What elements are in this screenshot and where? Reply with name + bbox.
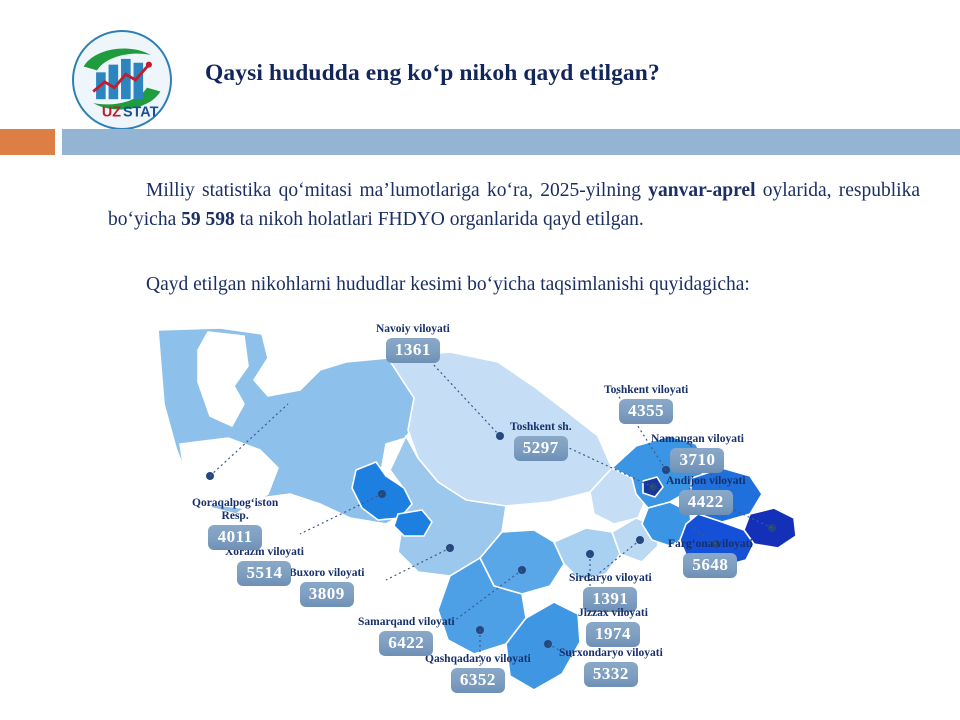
label-namangan-value: 3710 — [670, 448, 724, 473]
label-qoraqalpogiston[interactable]: Qoraqalpog‘iston Resp. 4011 — [192, 497, 278, 550]
intro-text-3: ta nikoh holatlari FHDYO organlarida qay… — [235, 209, 644, 230]
total-marriages-value: 59 598 — [181, 209, 235, 230]
label-qashqadaryo[interactable]: Qashqadaryo viloyati 6352 — [425, 653, 531, 693]
label-qoraqalpogiston-name-line1: Qoraqalpog‘iston — [192, 497, 278, 510]
label-namangan-name: Namangan viloyati — [651, 433, 744, 446]
page-title: Qaysi hududda eng ko‘p nikoh qayd etilga… — [205, 60, 905, 87]
label-surxondaryo-value: 5332 — [584, 662, 638, 687]
intro-text-1: Milliy statistika qo‘mitasi ma’lumotlari… — [146, 180, 648, 201]
label-toshkent-shahri[interactable]: Toshkent sh. 5297 — [510, 421, 572, 461]
slide: UZ STAT Qaysi hududda eng ko‘p nikoh qay… — [0, 0, 960, 720]
label-fargona-value: 5648 — [683, 553, 737, 578]
label-buxoro-value: 3809 — [300, 582, 354, 607]
label-fargona[interactable]: Farg‘ona viloyati 5648 — [668, 538, 753, 578]
uzstat-logo: UZ STAT — [72, 30, 172, 130]
label-jizzax[interactable]: Jizzax viloyati 1974 — [578, 607, 648, 647]
label-navoiy-value: 1361 — [386, 338, 440, 363]
label-fargona-name: Farg‘ona viloyati — [668, 538, 753, 551]
label-sirdaryo-name: Sirdaryo viloyati — [569, 572, 652, 585]
accent-bar-orange — [0, 129, 55, 155]
label-samarqand[interactable]: Samarqand viloyati 6422 — [358, 616, 455, 656]
label-andijon-name: Andijon viloyati — [666, 475, 746, 488]
label-qoraqalpogiston-value: 4011 — [208, 525, 262, 550]
logo-stat-text: STAT — [123, 104, 159, 120]
label-xorazm[interactable]: Xorazm viloyati 5514 — [225, 546, 304, 586]
label-xorazm-value: 5514 — [237, 561, 291, 586]
logo-uz-text: UZ — [102, 104, 121, 120]
label-toshkent-viloyati-value: 4355 — [619, 399, 673, 424]
label-namangan[interactable]: Namangan viloyati 3710 — [651, 433, 744, 473]
label-samarqand-value: 6422 — [379, 631, 433, 656]
label-jizzax-value: 1974 — [586, 622, 640, 647]
label-andijon[interactable]: Andijon viloyati 4422 — [666, 475, 746, 515]
intro-paragraph: Milliy statistika qo‘mitasi ma’lumotlari… — [108, 176, 920, 234]
label-surxondaryo[interactable]: Surxondaryo viloyati 5332 — [559, 647, 663, 687]
label-toshkent-shahri-value: 5297 — [514, 436, 568, 461]
label-navoiy[interactable]: Navoiy viloyati 1361 — [376, 323, 450, 363]
label-jizzax-name: Jizzax viloyati — [578, 607, 648, 620]
label-toshkent-shahri-name: Toshkent sh. — [510, 421, 572, 434]
label-qashqadaryo-value: 6352 — [451, 668, 505, 693]
accent-bar-blue — [62, 129, 960, 155]
label-toshkent-viloyati-name: Toshkent viloyati — [604, 384, 688, 397]
label-samarqand-name: Samarqand viloyati — [358, 616, 455, 629]
label-toshkent-viloyati[interactable]: Toshkent viloyati 4355 — [604, 384, 688, 424]
label-surxondaryo-name: Surxondaryo viloyati — [559, 647, 663, 660]
lead-in-paragraph: Qayd etilgan nikohlarni hududlar kesimi … — [108, 270, 920, 299]
label-qoraqalpogiston-name-line2: Resp. — [192, 510, 278, 523]
label-sirdaryo[interactable]: Sirdaryo viloyati 1391 — [569, 572, 652, 612]
label-navoiy-name: Navoiy viloyati — [376, 323, 450, 336]
label-andijon-value: 4422 — [679, 490, 733, 515]
period-highlight: yanvar-aprel — [648, 180, 755, 201]
